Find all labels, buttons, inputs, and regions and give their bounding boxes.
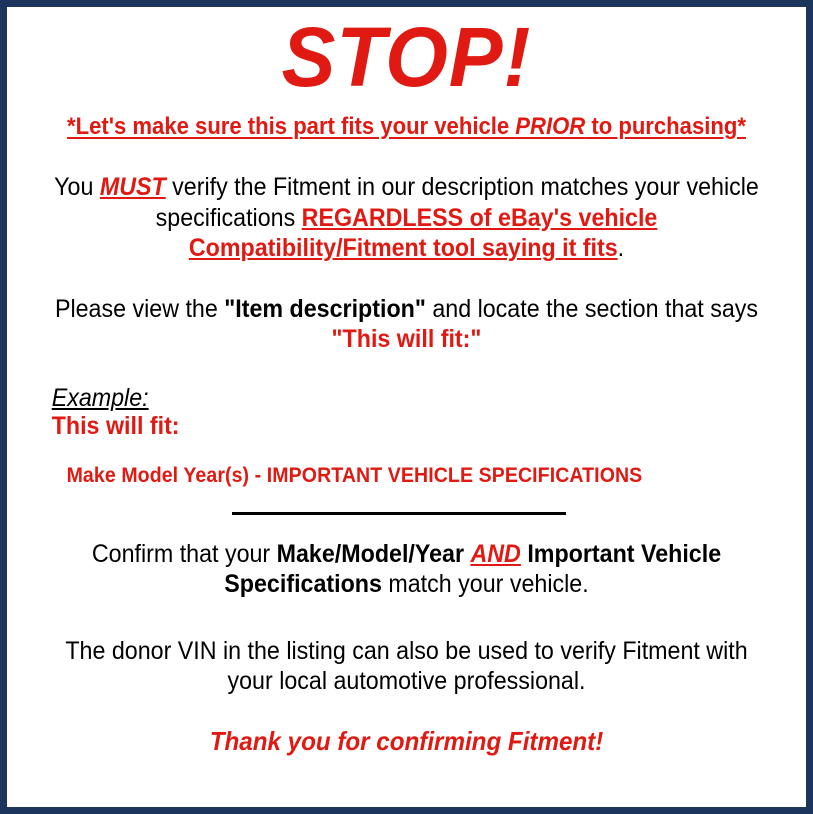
confirm-text-2: match your vehicle. [382, 570, 589, 598]
confirm-text-1: Confirm that your [92, 540, 277, 568]
paragraph-donor-vin: The donor VIN in the listing can also be… [48, 600, 765, 697]
page-title: STOP! [36, 7, 776, 101]
verify-emphasis-must: MUST [100, 173, 166, 201]
paragraph-verify-fitment: You MUST verify the Fitment in our descr… [48, 140, 765, 264]
confirm-emphasis-and: AND [470, 540, 520, 568]
closing-thank-you: Thank you for confirming Fitment! [48, 697, 765, 757]
itemdesc-text-1: Please view the [55, 295, 224, 323]
subtitle-warning: *Let's make sure this part fits your veh… [52, 101, 761, 141]
subtitle-prefix: *Let's make sure this part fits your veh… [67, 113, 515, 140]
example-label: Example: [52, 385, 149, 413]
itemdesc-emphasis-this-will-fit: "This will fit:" [332, 325, 482, 353]
confirm-emphasis-make-model-year: Make/Model/Year [277, 540, 464, 568]
itemdesc-emphasis-item-description: "Item description" [224, 295, 426, 323]
example-spec-line: Make Model Year(s) - IMPORTANT VEHICLE S… [52, 442, 738, 488]
fitment-notice-card: STOP! *Let's make sure this part fits yo… [0, 0, 813, 814]
itemdesc-text-2: and locate the section that says [426, 295, 758, 323]
subtitle-emphasis-prior: PRIOR [515, 113, 585, 140]
example-block: Example: This will fit: Make Model Year(… [21, 355, 738, 488]
subtitle-suffix: to purchasing* [585, 113, 746, 140]
paragraph-confirm: Confirm that your Make/Model/Year AND Im… [48, 515, 765, 600]
divider [21, 488, 792, 515]
verify-text-3: . [618, 234, 624, 262]
paragraph-item-description: Please view the "Item description" and l… [48, 264, 765, 355]
example-fits-heading: This will fit: [52, 412, 738, 442]
verify-text-1: You [54, 173, 100, 201]
